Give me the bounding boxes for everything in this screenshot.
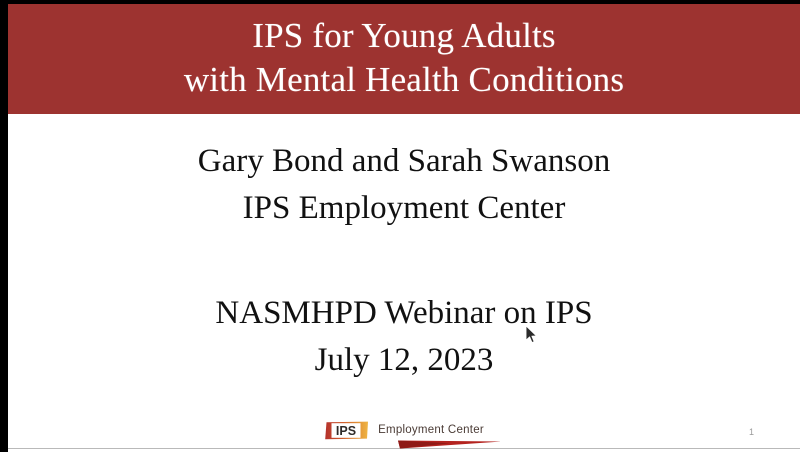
slide-body: Gary Bond and Sarah Swanson IPS Employme… xyxy=(8,114,800,452)
slide-title-line-1: IPS for Young Adults xyxy=(252,14,556,58)
presenter-names: Gary Bond and Sarah Swanson xyxy=(8,138,800,185)
page-number: 1 xyxy=(749,426,754,438)
slide-viewer: IPS for Young Adults with Mental Health … xyxy=(0,0,800,452)
slide-surface: IPS for Young Adults with Mental Health … xyxy=(8,4,800,452)
presenter-block: Gary Bond and Sarah Swanson IPS Employme… xyxy=(8,138,800,232)
event-name: NASMHPD Webinar on IPS xyxy=(8,290,800,337)
presenter-organization: IPS Employment Center xyxy=(8,185,800,232)
svg-text:IPS: IPS xyxy=(336,424,356,438)
event-date: July 12, 2023 xyxy=(8,337,800,384)
red-progress-marker xyxy=(390,440,500,449)
ips-logo-icon: IPS xyxy=(324,421,370,440)
title-banner: IPS for Young Adults with Mental Health … xyxy=(8,4,800,114)
event-block: NASMHPD Webinar on IPS July 12, 2023 xyxy=(8,290,800,384)
letterbox-top-bar xyxy=(0,0,800,4)
letterbox-left-bar xyxy=(0,0,8,452)
slide-title-line-2: with Mental Health Conditions xyxy=(184,58,624,102)
ips-employment-center-logo: IPS Employment Center xyxy=(8,420,800,440)
ips-logo-wordmark: Employment Center xyxy=(378,421,484,440)
